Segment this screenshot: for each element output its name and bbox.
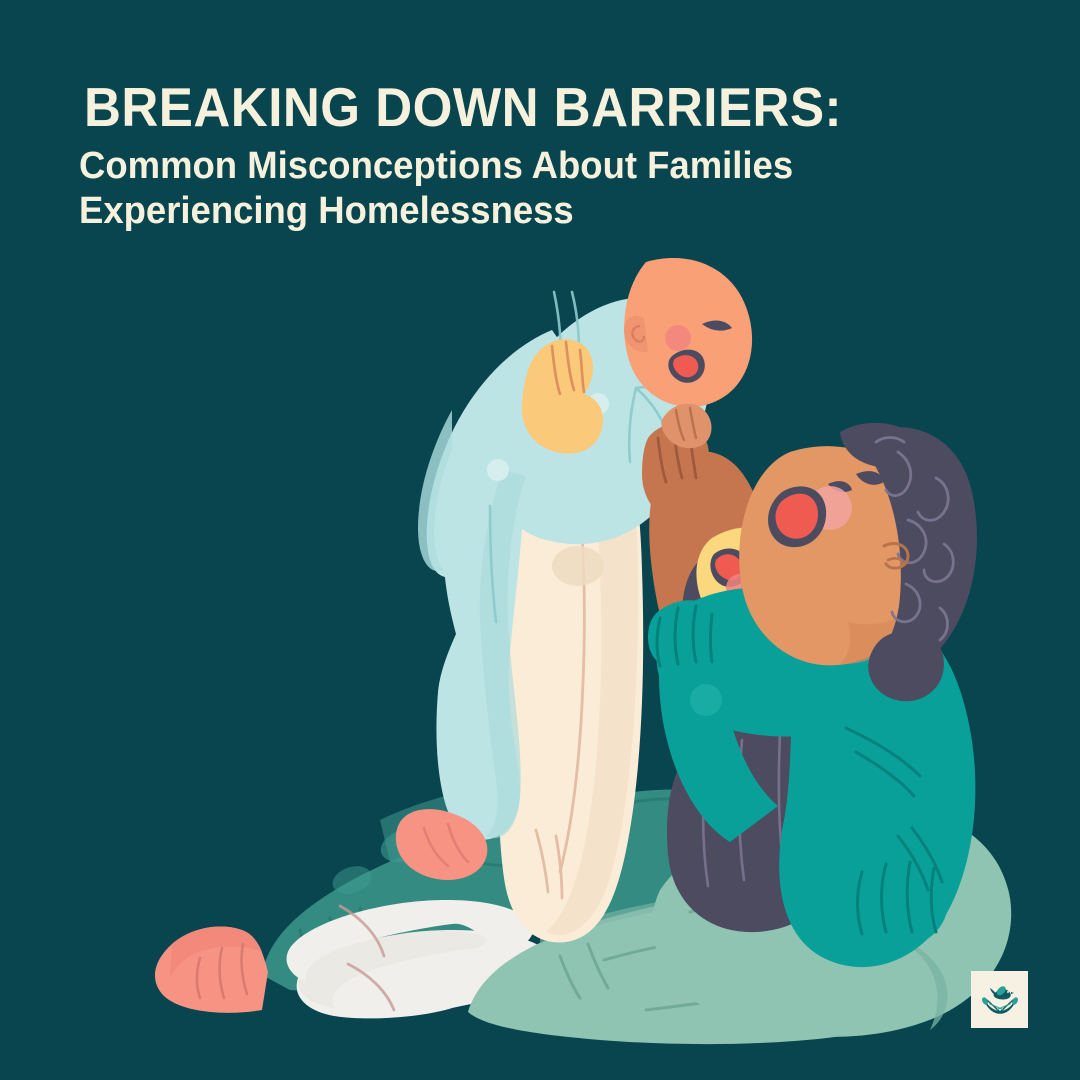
brand-logo[interactable] [971, 971, 1028, 1028]
poster-canvas: BREAKING DOWN BARRIERS: Common Misconcep… [0, 0, 1080, 1080]
bird-over-nest-icon [978, 978, 1022, 1022]
page-subtitle: Common Misconceptions About Families Exp… [79, 144, 793, 234]
page-title: BREAKING DOWN BARRIERS: [84, 78, 842, 136]
